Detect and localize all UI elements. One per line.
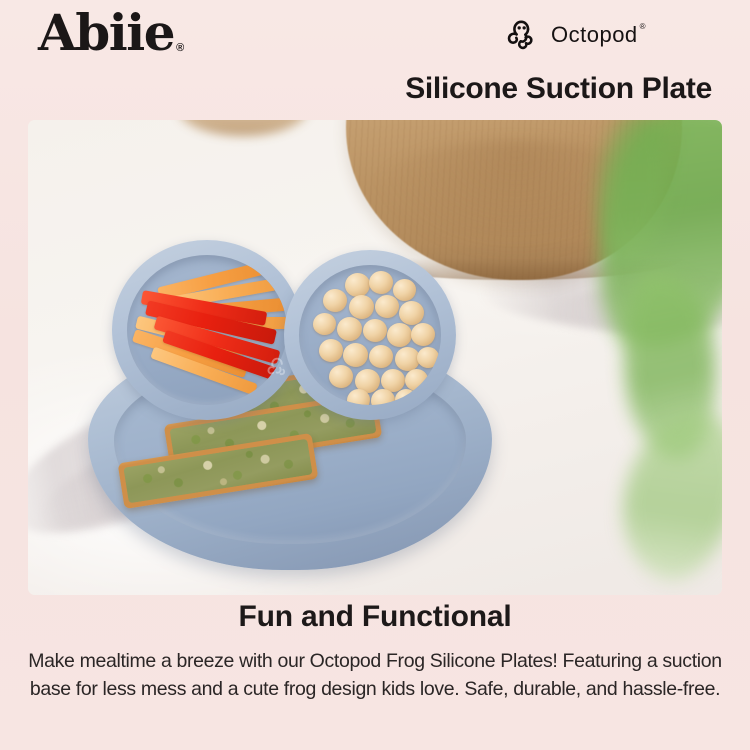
chickpea [375,295,399,318]
octopus-eye-right [523,26,526,29]
chickpea [349,295,374,319]
chickpea [345,273,370,297]
right-eye-well-inner [299,265,441,405]
brand-logo: Abiie ® [38,8,183,58]
chickpea [371,389,395,405]
sub-brand-lockup: Octopod ® [506,18,646,52]
product-marketing-card: Abiie ® Octopod ® Silicone [0,0,750,750]
chickpea [395,389,417,405]
brand-trademark-symbol: ® [176,43,183,54]
chickpea [347,389,370,405]
chickpea [405,369,428,391]
chickpea [363,319,387,342]
chickpea [369,345,393,368]
chickpea [387,323,412,347]
feature-description: Make mealtime a breeze with our Octopod … [26,648,724,703]
sub-brand-name: Octopod ® [551,24,646,46]
plate-left-eye-compartment [112,240,302,420]
octopus-eye-left [518,26,521,29]
chickpea [329,365,353,388]
chickpea [393,279,416,301]
silicone-plate [88,240,492,570]
product-title: Silicone Suction Plate [405,74,712,104]
chickpea [369,271,393,294]
sub-brand-trademark-symbol: ® [640,23,646,31]
chickpea [323,289,347,312]
chickpea [411,323,435,346]
chickpea [337,317,362,341]
brand-logo-text: Abiie [38,8,174,58]
plate-right-eye-compartment [284,250,456,420]
chickpea [343,343,368,367]
chickpea [319,339,343,362]
feature-title: Fun and Functional [0,602,750,632]
chickpea [399,301,424,325]
sub-brand-text: Octopod [551,24,638,46]
product-photo [28,120,722,595]
left-eye-well-inner [127,255,287,405]
chickpea [313,313,336,335]
chickpea [417,347,439,368]
octopus-icon [506,18,542,52]
header: Abiie ® Octopod ® Silicone [0,0,750,120]
plate-emboss-octopus-icon [266,356,292,380]
